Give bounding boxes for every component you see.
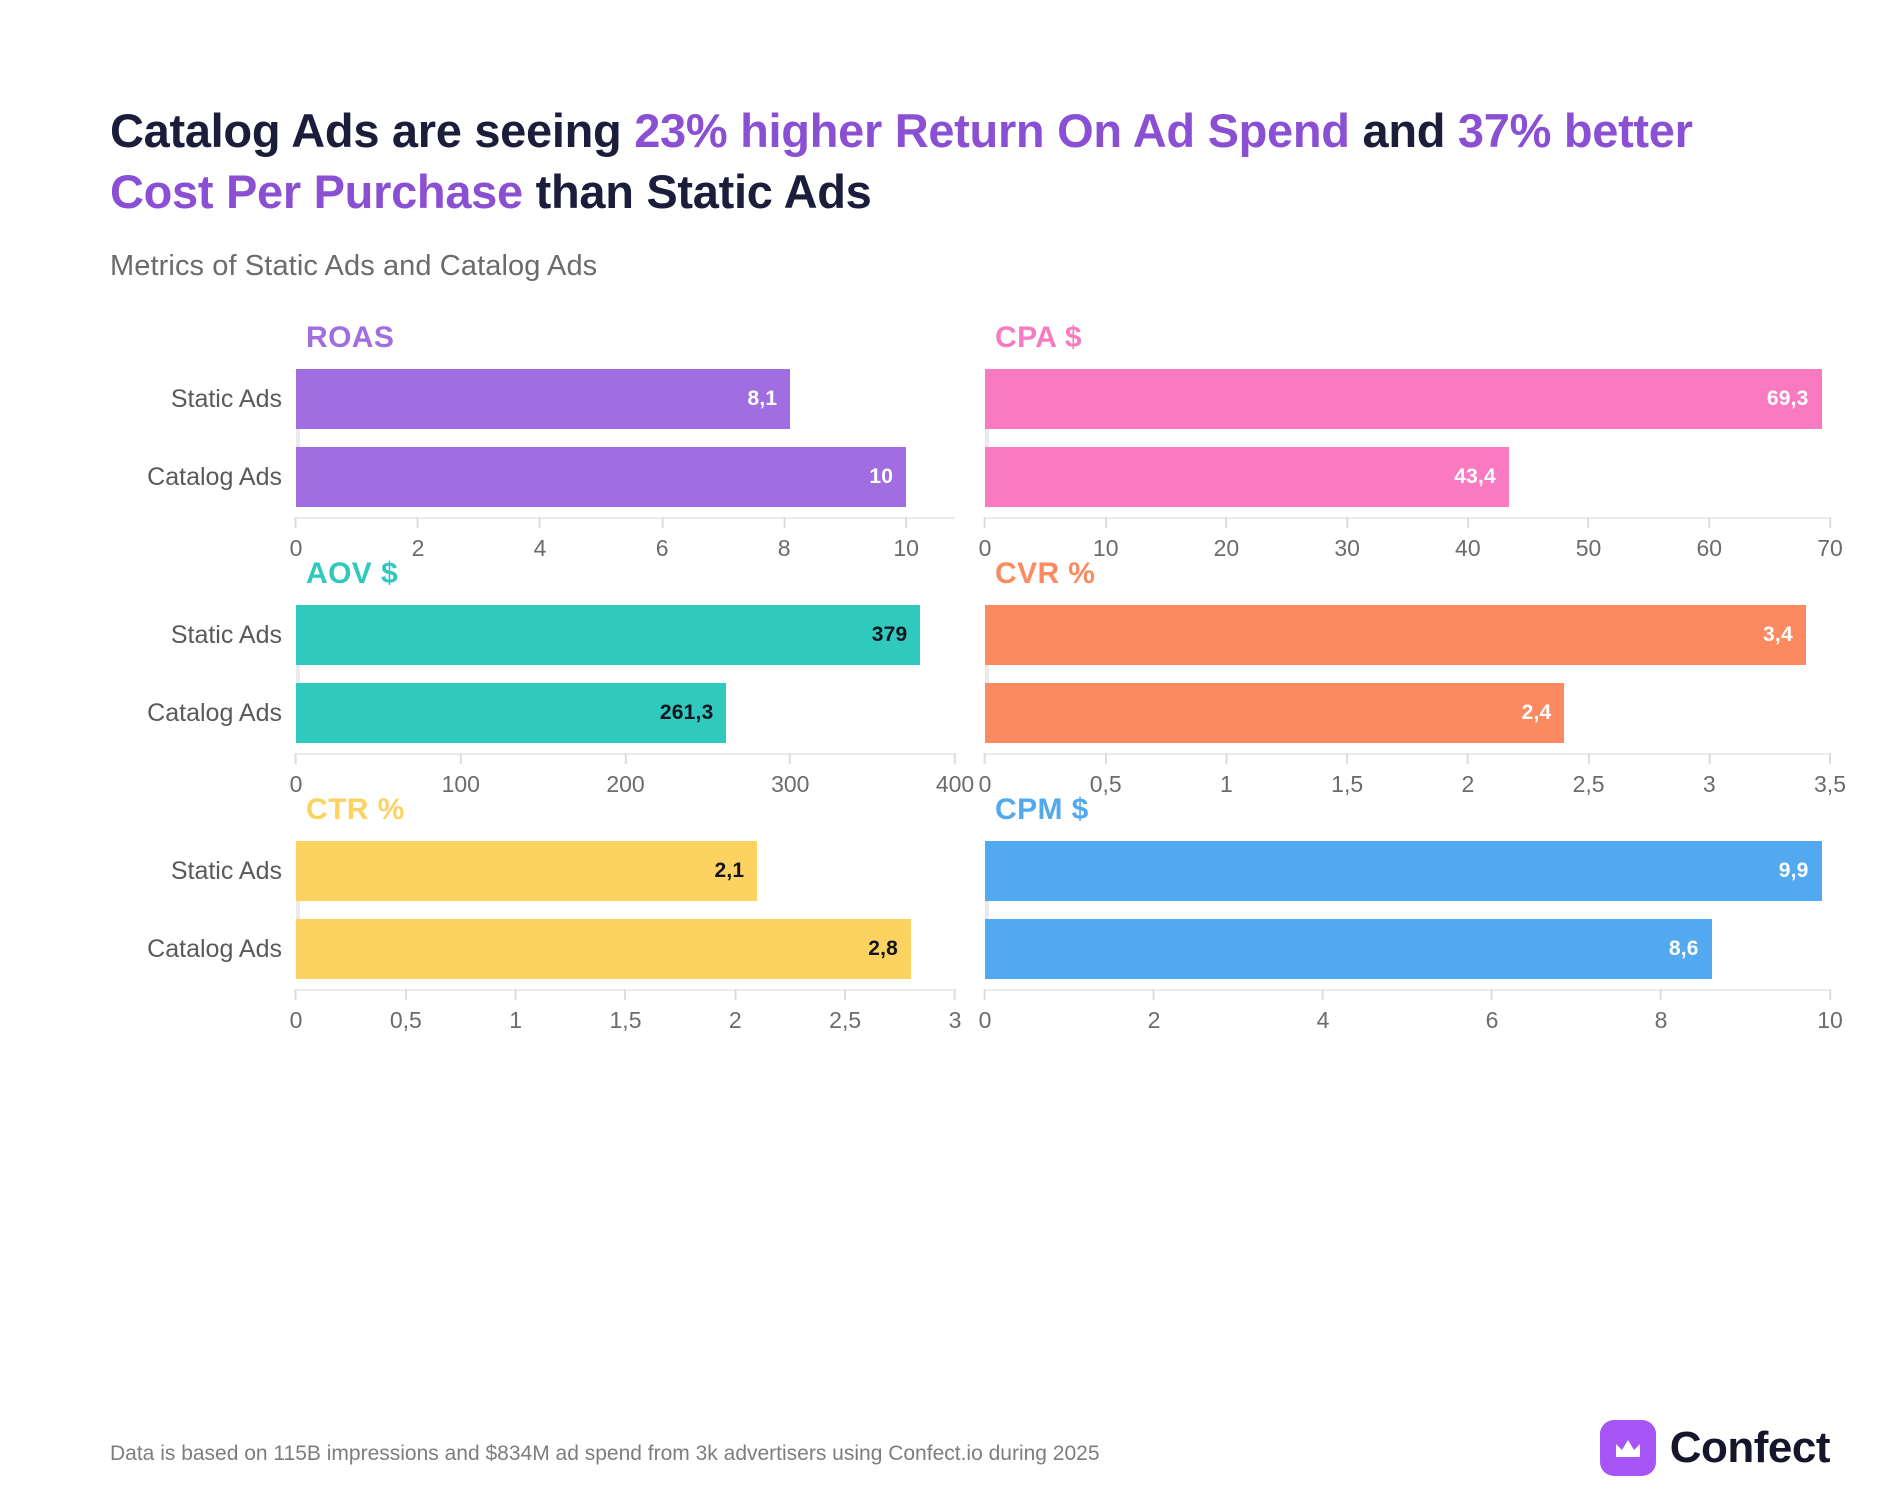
tick-mark: [1588, 517, 1590, 528]
x-axis-track: 0246810: [985, 989, 1830, 1045]
x-axis-track: 00,511,522,53: [296, 989, 955, 1045]
x-axis-tick: 10: [893, 517, 919, 562]
tick-mark: [417, 517, 419, 528]
x-axis-tick: 2,5: [1573, 753, 1605, 798]
bar: 2,8: [296, 919, 911, 979]
x-axis-tick: 4: [534, 517, 547, 562]
chart-title: CPA $: [995, 321, 1830, 359]
title-segment-plain-2: and: [1362, 104, 1457, 157]
bar-value-label: 3,4: [1763, 623, 1793, 647]
category-label: Catalog Ads: [110, 447, 296, 507]
tick-mark: [984, 989, 986, 1000]
bars-container: 9,98,6: [985, 841, 1830, 979]
footnote: Data is based on 115B impressions and $8…: [110, 1442, 1100, 1476]
bar: 9,9: [985, 841, 1822, 901]
plot-area: Static AdsCatalog Ads8,110: [110, 369, 955, 507]
x-axis-tick: 1: [1220, 753, 1233, 798]
tick-label: 0,5: [390, 1007, 422, 1034]
x-axis-tick: 2,5: [829, 989, 861, 1034]
tick-mark: [1322, 989, 1324, 1000]
tick-label: 2: [1148, 1007, 1161, 1034]
page-subtitle: Metrics of Static Ads and Catalog Ads: [110, 250, 1780, 283]
tick-label: 2,5: [829, 1007, 861, 1034]
chart-panel-aov: AOV $Static AdsCatalog Ads379261,3010020…: [110, 557, 955, 793]
chart-title: CVR %: [995, 557, 1830, 595]
chart-panel-cpm: CPM $Static AdsCatalog Ads9,98,60246810: [985, 793, 1830, 1029]
tick-mark: [1829, 517, 1831, 528]
x-axis-tick: 70: [1817, 517, 1843, 562]
bar-row: 2,1: [296, 841, 955, 901]
category-label: Catalog Ads: [110, 683, 296, 743]
tick-mark: [954, 989, 956, 1000]
plot-area: Static AdsCatalog Ads379261,3: [110, 605, 955, 743]
category-axis: Static AdsCatalog Ads: [110, 605, 296, 743]
bars-container: 3,42,4: [985, 605, 1830, 743]
bar-row: 8,6: [985, 919, 1830, 979]
category-label: Static Ads: [110, 841, 296, 901]
x-axis-tick: 0: [290, 517, 303, 562]
tick-label: 4: [1317, 1007, 1330, 1034]
bar-value-label: 379: [872, 623, 908, 647]
x-axis-tick: 1: [509, 989, 522, 1034]
x-axis: 00,511,522,53: [110, 989, 955, 1045]
tick-mark: [295, 517, 297, 528]
x-axis-tick: 8: [778, 517, 791, 562]
chart-panel-roas: ROASStatic AdsCatalog Ads8,1100246810: [110, 321, 955, 557]
bar-value-label: 2,8: [868, 937, 898, 961]
tick-label: 0: [290, 1007, 303, 1034]
bar: 2,4: [985, 683, 1564, 743]
footer: Data is based on 115B impressions and $8…: [110, 1420, 1830, 1476]
bar-row: 9,9: [985, 841, 1830, 901]
bar: 10: [296, 447, 906, 507]
bar-value-label: 10: [869, 465, 893, 489]
x-axis-tick: 0: [290, 989, 303, 1034]
tick-mark: [1467, 517, 1469, 528]
brand-name: Confect: [1670, 1423, 1830, 1473]
category-label: Catalog Ads: [110, 919, 296, 979]
x-axis-tick: 10: [1093, 517, 1119, 562]
bar-value-label: 2,4: [1522, 701, 1552, 725]
tick-mark: [515, 989, 517, 1000]
x-axis-tick: 30: [1334, 517, 1360, 562]
bar-row: 3,4: [985, 605, 1830, 665]
x-axis-tick: 400: [936, 753, 974, 798]
x-axis-tick: 4: [1317, 989, 1330, 1034]
infographic-page: Catalog Ads are seeing 23% higher Return…: [0, 0, 1890, 1512]
tick-label: 8: [1655, 1007, 1668, 1034]
tick-mark: [1708, 517, 1710, 528]
x-axis-tick: 3: [949, 989, 962, 1034]
x-axis-tick: 0,5: [1090, 753, 1122, 798]
title-segment-accent-1: 23% higher Return On Ad Spend: [634, 104, 1350, 157]
tick-mark: [295, 753, 297, 764]
x-axis-tick: 0: [290, 753, 303, 798]
bar-value-label: 8,1: [747, 387, 777, 411]
tick-mark: [905, 517, 907, 528]
plot-area: Static AdsCatalog Ads2,12,8: [110, 841, 955, 979]
x-axis-tick: 20: [1214, 517, 1240, 562]
x-axis-rule: [296, 517, 955, 519]
bar-value-label: 43,4: [1454, 465, 1496, 489]
tick-mark: [661, 517, 663, 528]
page-title: Catalog Ads are seeing 23% higher Return…: [110, 100, 1750, 222]
bar-row: 43,4: [985, 447, 1830, 507]
bar-row: 2,4: [985, 683, 1830, 743]
x-axis-rule: [985, 989, 1830, 991]
tick-mark: [1491, 989, 1493, 1000]
tick-mark: [405, 989, 407, 1000]
x-axis-tick: 6: [656, 517, 669, 562]
tick-mark: [1346, 517, 1348, 528]
axis-spacer: [110, 989, 296, 1045]
bars-container: 2,12,8: [296, 841, 955, 979]
tick-mark: [789, 753, 791, 764]
x-axis-tick: 1,5: [610, 989, 642, 1034]
chart-panel-ctr: CTR %Static AdsCatalog Ads2,12,800,511,5…: [110, 793, 955, 1029]
tick-mark: [844, 989, 846, 1000]
tick-label: 1: [509, 1007, 522, 1034]
tick-mark: [1708, 753, 1710, 764]
tick-mark: [1829, 989, 1831, 1000]
bar-value-label: 69,3: [1767, 387, 1809, 411]
title-segment-plain-3: than Static Ads: [523, 165, 872, 218]
bar: 2,1: [296, 841, 757, 901]
tick-mark: [295, 989, 297, 1000]
tick-label: 6: [1486, 1007, 1499, 1034]
chart-grid: ROASStatic AdsCatalog Ads8,1100246810CPA…: [0, 321, 1890, 1029]
tick-label: 3: [949, 1007, 962, 1034]
confect-logo-icon: [1600, 1420, 1656, 1476]
tick-label: 1,5: [610, 1007, 642, 1034]
tick-mark: [1105, 517, 1107, 528]
x-axis-tick: 300: [771, 753, 809, 798]
tick-mark: [625, 753, 627, 764]
chart-title: ROAS: [306, 321, 955, 359]
x-axis-tick: 60: [1696, 517, 1722, 562]
x-axis-tick: 10: [1817, 989, 1843, 1034]
title-segment-plain-1: Catalog Ads are seeing: [110, 104, 634, 157]
x-axis-tick: 0: [979, 989, 992, 1034]
x-axis-tick: 100: [442, 753, 480, 798]
tick-mark: [984, 753, 986, 764]
category-axis: Static AdsCatalog Ads: [110, 369, 296, 507]
bar: 379: [296, 605, 920, 665]
bar: 8,1: [296, 369, 790, 429]
tick-label: 0: [979, 1007, 992, 1034]
x-axis-tick: 2: [1461, 753, 1474, 798]
tick-label: 2: [729, 1007, 742, 1034]
chart-title: CTR %: [306, 793, 955, 831]
x-axis-tick: 2: [729, 989, 742, 1034]
tick-mark: [1225, 517, 1227, 528]
tick-label: 10: [1817, 1007, 1843, 1034]
bar-value-label: 9,9: [1779, 859, 1809, 883]
chart-panel-cpa: CPA $Static AdsCatalog Ads69,343,4010203…: [985, 321, 1830, 557]
category-label: Static Ads: [110, 369, 296, 429]
bar-value-label: 2,1: [715, 859, 745, 883]
plot-area: Static AdsCatalog Ads3,42,4: [985, 605, 1830, 743]
x-axis-tick: 2: [1148, 989, 1161, 1034]
x-axis-tick: 40: [1455, 517, 1481, 562]
bars-container: 379261,3: [296, 605, 955, 743]
x-axis-tick: 2: [412, 517, 425, 562]
bar-value-label: 8,6: [1669, 937, 1699, 961]
tick-mark: [1105, 753, 1107, 764]
tick-mark: [539, 517, 541, 528]
chart-title: CPM $: [995, 793, 1830, 831]
bar-row: 8,1: [296, 369, 955, 429]
bars-container: 8,110: [296, 369, 955, 507]
bar-row: 2,8: [296, 919, 955, 979]
bar-row: 261,3: [296, 683, 955, 743]
x-axis-tick: 0: [979, 517, 992, 562]
tick-mark: [1588, 753, 1590, 764]
plot-area: Static AdsCatalog Ads9,98,6: [985, 841, 1830, 979]
bar-value-label: 261,3: [660, 701, 714, 725]
chart-title: AOV $: [306, 557, 955, 595]
header: Catalog Ads are seeing 23% higher Return…: [0, 0, 1890, 283]
tick-mark: [1346, 753, 1348, 764]
category-axis: Static AdsCatalog Ads: [110, 841, 296, 979]
bar: 43,4: [985, 447, 1509, 507]
bar-row: 69,3: [985, 369, 1830, 429]
tick-mark: [460, 753, 462, 764]
x-axis-tick: 0,5: [390, 989, 422, 1034]
x-axis-tick: 6: [1486, 989, 1499, 1034]
tick-mark: [1225, 753, 1227, 764]
x-axis-tick: 0: [979, 753, 992, 798]
tick-mark: [783, 517, 785, 528]
bar-row: 379: [296, 605, 955, 665]
category-label: Static Ads: [110, 605, 296, 665]
chart-panel-cvr: CVR %Static AdsCatalog Ads3,42,400,511,5…: [985, 557, 1830, 793]
bar: 261,3: [296, 683, 726, 743]
bar-row: 10: [296, 447, 955, 507]
tick-mark: [984, 517, 986, 528]
x-axis-tick: 200: [606, 753, 644, 798]
tick-mark: [1660, 989, 1662, 1000]
tick-mark: [1153, 989, 1155, 1000]
tick-mark: [1467, 753, 1469, 764]
plot-area: Static AdsCatalog Ads69,343,4: [985, 369, 1830, 507]
tick-mark: [624, 989, 626, 1000]
bar: 69,3: [985, 369, 1822, 429]
brand-logo: Confect: [1600, 1420, 1830, 1476]
bar: 8,6: [985, 919, 1712, 979]
tick-mark: [1829, 753, 1831, 764]
x-axis-tick: 3: [1703, 753, 1716, 798]
bars-container: 69,343,4: [985, 369, 1830, 507]
x-axis: 0246810: [985, 989, 1830, 1045]
x-axis-tick: 3,5: [1814, 753, 1846, 798]
x-axis-tick: 8: [1655, 989, 1668, 1034]
tick-mark: [734, 989, 736, 1000]
bar: 3,4: [985, 605, 1806, 665]
x-axis-tick: 1,5: [1331, 753, 1363, 798]
x-axis-tick: 50: [1576, 517, 1602, 562]
tick-mark: [954, 753, 956, 764]
